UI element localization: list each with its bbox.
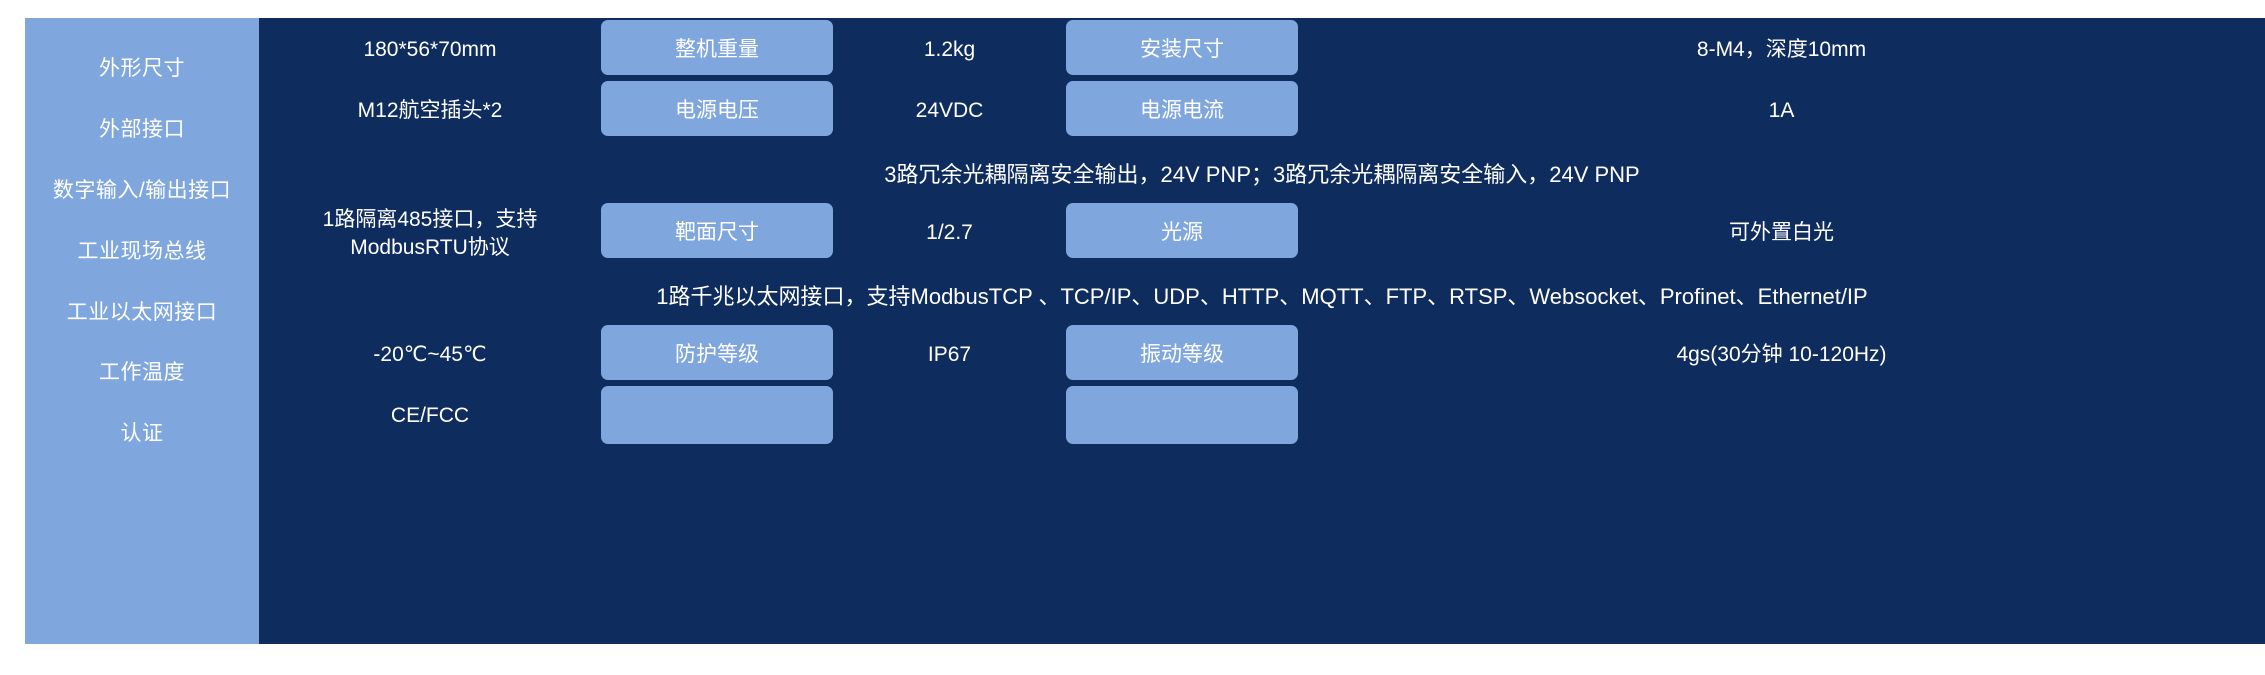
row5-value-ethernet: 1路千兆以太网接口，支持ModbusTCP 、TCP/IP、UDP、HTTP、M… bbox=[259, 279, 2265, 311]
row-label-dimensions: 外形尺寸 bbox=[25, 52, 259, 82]
row-label-temperature: 工作温度 bbox=[25, 356, 259, 386]
row7-tag-empty-1 bbox=[601, 386, 833, 444]
row4-value-fieldbus-line2: ModbusRTU协议 bbox=[259, 232, 601, 265]
row6-value-temperature: -20℃~45℃ bbox=[259, 339, 601, 372]
row7-tag-empty-2 bbox=[1066, 386, 1298, 444]
row4-tag-sensor-size: 靶面尺寸 bbox=[601, 203, 833, 258]
row4-tag-light-source: 光源 bbox=[1066, 203, 1298, 258]
row-label-certification: 认证 bbox=[25, 417, 259, 447]
row1-tag-mounting: 安装尺寸 bbox=[1066, 20, 1298, 75]
row4-value-sensor-size: 1/2.7 bbox=[833, 217, 1066, 250]
row-label-ethernet: 工业以太网接口 bbox=[25, 296, 259, 326]
row6-tag-vibration: 振动等级 bbox=[1066, 325, 1298, 380]
row4-value-light-source: 可外置白光 bbox=[1298, 217, 2265, 250]
spec-row-label-column: 外形尺寸 外部接口 数字输入/输出接口 工业现场总线 工业以太网接口 工作温度 … bbox=[25, 18, 259, 644]
row-label-fieldbus: 工业现场总线 bbox=[25, 235, 259, 265]
row-label-external-io: 外部接口 bbox=[25, 113, 259, 143]
row2-tag-voltage: 电源电压 bbox=[601, 81, 833, 136]
row6-value-vibration: 4gs(30分钟 10-120Hz) bbox=[1298, 339, 2265, 372]
row6-value-ip-rating: IP67 bbox=[833, 339, 1066, 372]
row2-value-current: 1A bbox=[1298, 95, 2265, 128]
row3-value-digital-io: 3路冗余光耦隔离安全输出，24V PNP；3路冗余光耦隔离安全输入，24V PN… bbox=[259, 157, 2265, 189]
spec-table-container: 外形尺寸 外部接口 数字输入/输出接口 工业现场总线 工业以太网接口 工作温度 … bbox=[0, 0, 2265, 675]
row6-tag-ip-rating: 防护等级 bbox=[601, 325, 833, 380]
row1-value-mounting: 8-M4，深度10mm bbox=[1298, 34, 2265, 67]
row2-value-connector: M12航空插头*2 bbox=[259, 95, 601, 128]
row1-value-dimensions: 180*56*70mm bbox=[259, 34, 601, 67]
row-label-digital-io: 数字输入/输出接口 bbox=[25, 174, 259, 204]
row1-value-weight: 1.2kg bbox=[833, 34, 1066, 67]
row2-tag-current: 电源电流 bbox=[1066, 81, 1298, 136]
row7-value-certification: CE/FCC bbox=[259, 400, 601, 433]
row2-value-voltage: 24VDC bbox=[833, 95, 1066, 128]
row1-tag-weight: 整机重量 bbox=[601, 20, 833, 75]
